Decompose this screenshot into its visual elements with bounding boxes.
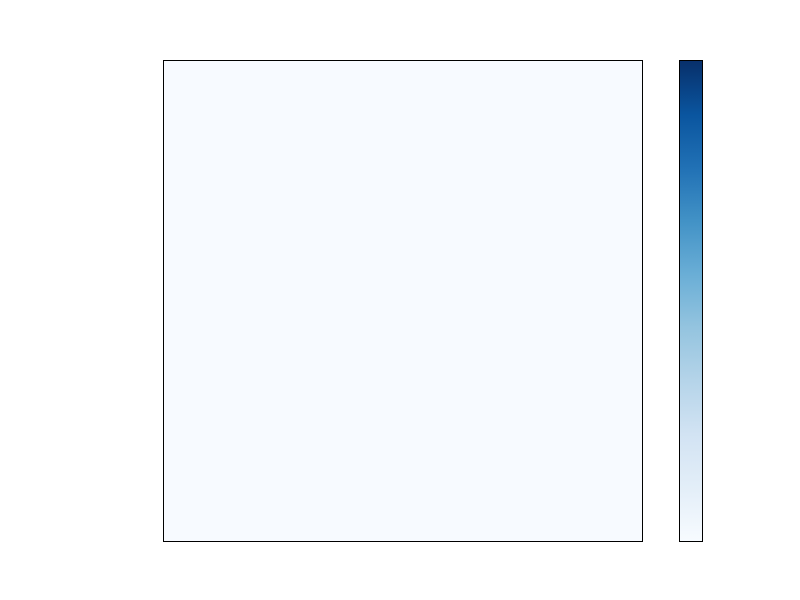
- heatmap-cells[interactable]: [164, 61, 642, 541]
- heatmap-plot-area[interactable]: [163, 60, 643, 542]
- colorbar-gradient: [679, 60, 703, 542]
- heatmap-figure: [0, 0, 800, 600]
- colorbar[interactable]: [679, 60, 703, 542]
